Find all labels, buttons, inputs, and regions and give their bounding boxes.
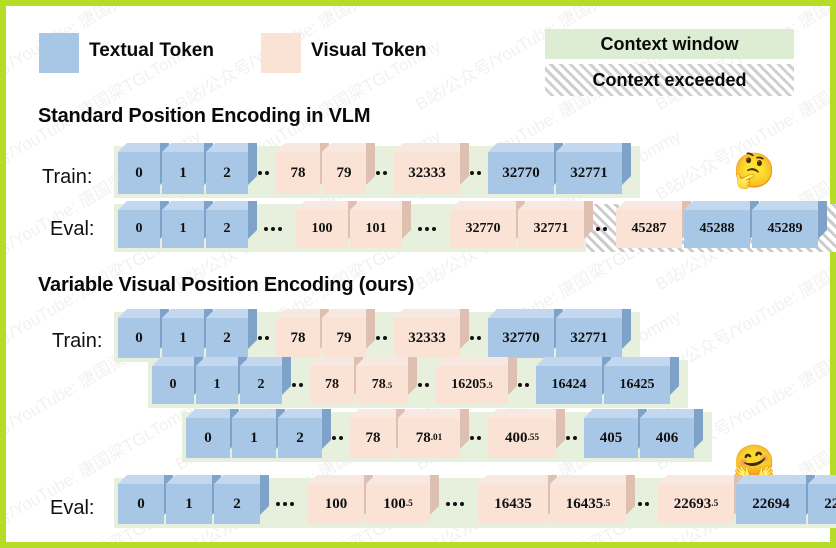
cube-top-face — [550, 475, 626, 484]
ellipsis-dot — [645, 502, 649, 506]
ellipsis-dot — [566, 436, 570, 440]
textual-token-cube: 0 — [186, 418, 230, 458]
ellipsis-dot — [258, 171, 262, 175]
token-value: 16205.5 — [436, 366, 508, 404]
cube-top-face — [162, 309, 204, 318]
textual-token-cube: 32770 — [488, 318, 554, 358]
textual-token-cube: 2 — [206, 318, 248, 358]
textual-token-cube: 0 — [118, 210, 160, 248]
cube-top-face — [518, 201, 584, 210]
visual-token-cube: 16205.5 — [436, 366, 508, 404]
token-value: 1 — [162, 210, 204, 248]
figure-root: B站/公众号/YouTube: 唐国梁TGLTommyB站/公众号/YouTub… — [0, 0, 836, 548]
cube-top-face — [118, 475, 164, 484]
token-value-subscript: .5 — [406, 499, 413, 509]
textual-token-cube: 2 — [214, 484, 260, 524]
ellipsis-dot — [290, 502, 294, 506]
ellipsis-gap — [462, 418, 488, 458]
ellipsis-gap — [432, 484, 478, 524]
ellipsis-dot — [596, 227, 600, 231]
cube-top-face — [196, 357, 238, 366]
ellipsis-dot — [518, 383, 522, 387]
textual-token-cube: 1 — [162, 210, 204, 248]
token-value: 45289 — [752, 210, 818, 248]
textual-token-cube: 2 — [206, 152, 248, 194]
ellipsis-dot — [425, 383, 429, 387]
token-value: 1 — [196, 366, 238, 404]
token-value: 2 — [206, 210, 248, 248]
visual-token-cube: 78.5 — [356, 366, 408, 404]
cube-top-face — [616, 201, 682, 210]
token-value: 0 — [118, 484, 164, 524]
cube-top-face — [488, 143, 554, 152]
cube-top-face — [584, 409, 638, 418]
cube-top-face — [436, 357, 508, 366]
cube-side-face — [622, 309, 631, 349]
cube-top-face — [276, 309, 320, 318]
ellipsis-gap — [410, 366, 436, 404]
token-value-subscript: .5 — [711, 499, 718, 509]
token-value: 2 — [206, 318, 248, 358]
token-value: 100.5 — [366, 484, 430, 524]
ellipsis-gap — [628, 484, 658, 524]
visual-token-cube: 22693.5 — [658, 484, 734, 524]
ellipsis-dot — [278, 227, 282, 231]
textual-token-cube: 45289 — [752, 210, 818, 248]
ellipsis-dot — [446, 502, 450, 506]
visual-token-cube: 32333 — [394, 152, 460, 194]
ellipsis-dot — [332, 436, 336, 440]
token-value: 1 — [162, 152, 204, 194]
cube-side-face — [670, 357, 679, 395]
visual-token-cube: 32771 — [518, 210, 584, 248]
cube-top-face — [640, 409, 694, 418]
token-rows-layer: 0127879323333277032771012100101327703277… — [6, 6, 830, 542]
cube-top-face — [152, 357, 194, 366]
token-value: 78.5 — [356, 366, 408, 404]
ellipsis-dot — [276, 502, 280, 506]
ellipsis-dot — [525, 383, 529, 387]
ellipsis-dot — [453, 502, 457, 506]
token-value: 32770 — [450, 210, 516, 248]
visual-token-cube: 78 — [350, 418, 396, 458]
visual-token-cube: 400.55 — [488, 418, 556, 458]
ellipsis-gap — [462, 152, 488, 194]
ellipsis-dot — [638, 502, 642, 506]
ellipsis-dot — [383, 171, 387, 175]
ellipsis-dot — [376, 171, 380, 175]
cube-top-face — [296, 201, 348, 210]
textual-token-cube: 1 — [196, 366, 238, 404]
cube-top-face — [276, 143, 320, 152]
ellipsis-dot — [573, 436, 577, 440]
textual-token-cube: 0 — [118, 484, 164, 524]
ellipsis-gap — [262, 484, 308, 524]
textual-token-cube: 16425 — [604, 366, 670, 404]
visual-token-cube: 32770 — [450, 210, 516, 248]
token-value: 2 — [278, 418, 322, 458]
cube-top-face — [658, 475, 734, 484]
cube-top-face — [556, 309, 622, 318]
ellipsis-dot — [299, 383, 303, 387]
token-value: 32770 — [488, 318, 554, 358]
cube-top-face — [556, 143, 622, 152]
token-value: 2 — [214, 484, 260, 524]
token-value: 22694 — [736, 484, 806, 524]
token-value: 400.55 — [488, 418, 556, 458]
ellipsis-dot — [477, 336, 481, 340]
textual-token-cube: 1 — [232, 418, 276, 458]
cube-top-face — [322, 143, 366, 152]
visual-token-cube: 16435.5 — [550, 484, 626, 524]
textual-token-cube: 2 — [278, 418, 322, 458]
cube-top-face — [240, 357, 282, 366]
ellipsis-dot — [470, 336, 474, 340]
cube-top-face — [736, 475, 806, 484]
token-value: 22695 — [808, 484, 836, 524]
textual-token-cube: 405 — [584, 418, 638, 458]
ellipsis-dot — [258, 336, 262, 340]
cube-top-face — [394, 143, 460, 152]
visual-token-cube: 78 — [310, 366, 354, 404]
token-value: 32333 — [394, 318, 460, 358]
token-value: 2 — [240, 366, 282, 404]
cube-top-face — [206, 309, 248, 318]
cube-side-face — [818, 201, 827, 239]
visual-token-cube: 101 — [350, 210, 402, 248]
ellipsis-dot — [418, 227, 422, 231]
token-value: 16435.5 — [550, 484, 626, 524]
textual-token-cube: 22694 — [736, 484, 806, 524]
cube-top-face — [278, 409, 322, 418]
textual-token-cube: 0 — [118, 152, 160, 194]
token-value: 78 — [310, 366, 354, 404]
ellipsis-gap — [324, 418, 350, 458]
textual-token-cube: 32771 — [556, 318, 622, 358]
visual-token-cube: 32333 — [394, 318, 460, 358]
token-value: 16424 — [536, 366, 602, 404]
token-value: 79 — [322, 318, 366, 358]
visual-token-cube: 16435 — [478, 484, 548, 524]
textual-token-cube: 0 — [152, 366, 194, 404]
cube-top-face — [356, 357, 408, 366]
ellipsis-dot — [265, 171, 269, 175]
ellipsis-dot — [376, 336, 380, 340]
visual-token-cube: 78 — [276, 152, 320, 194]
cube-top-face — [232, 409, 276, 418]
ellipsis-gap — [284, 366, 310, 404]
ellipsis-gap — [510, 366, 536, 404]
token-value: 32771 — [556, 318, 622, 358]
token-value: 78 — [350, 418, 396, 458]
cube-top-face — [118, 309, 160, 318]
token-value: 405 — [584, 418, 638, 458]
token-value: 22693.5 — [658, 484, 734, 524]
cube-top-face — [118, 201, 160, 210]
textual-token-cube: 2 — [206, 210, 248, 248]
cube-top-face — [350, 409, 396, 418]
ellipsis-gap — [586, 210, 616, 248]
token-value: 45287 — [616, 210, 682, 248]
visual-token-cube: 100.5 — [366, 484, 430, 524]
token-value: 78 — [276, 152, 320, 194]
cube-top-face — [604, 357, 670, 366]
textual-token-cube: 32771 — [556, 152, 622, 194]
token-value: 1 — [232, 418, 276, 458]
cube-top-face — [186, 409, 230, 418]
cube-top-face — [214, 475, 260, 484]
cube-top-face — [752, 201, 818, 210]
ellipsis-dot — [477, 171, 481, 175]
cube-top-face — [350, 201, 402, 210]
ellipsis-dot — [265, 336, 269, 340]
token-value: 16435 — [478, 484, 548, 524]
ellipsis-dot — [383, 336, 387, 340]
token-value: 100 — [296, 210, 348, 248]
cube-top-face — [206, 143, 248, 152]
token-value: 0 — [118, 210, 160, 248]
token-value: 32771 — [556, 152, 622, 194]
ellipsis-dot — [477, 436, 481, 440]
visual-token-cube: 78.01 — [398, 418, 460, 458]
cube-top-face — [478, 475, 548, 484]
ellipsis-dot — [283, 502, 287, 506]
cube-top-face — [206, 201, 248, 210]
cube-top-face — [488, 309, 554, 318]
textual-token-cube: 0 — [118, 318, 160, 358]
token-value: 45288 — [684, 210, 750, 248]
token-value-subscript: .5 — [386, 380, 393, 390]
textual-token-cube: 32770 — [488, 152, 554, 194]
textual-token-cube: 2 — [240, 366, 282, 404]
token-value: 0 — [186, 418, 230, 458]
ellipsis-dot — [292, 383, 296, 387]
cube-side-face — [694, 409, 703, 449]
visual-token-cube: 100 — [308, 484, 364, 524]
ellipsis-dot — [460, 502, 464, 506]
token-value: 79 — [322, 152, 366, 194]
cube-top-face — [808, 475, 836, 484]
ellipsis-dot — [432, 227, 436, 231]
token-value: 1 — [166, 484, 212, 524]
token-value: 0 — [118, 318, 160, 358]
visual-token-cube: 79 — [322, 318, 366, 358]
token-value-subscript: .01 — [431, 433, 443, 443]
token-value-subscript: .55 — [527, 433, 539, 443]
cube-top-face — [450, 201, 516, 210]
textual-token-cube: 22695 — [808, 484, 836, 524]
token-value: 100 — [308, 484, 364, 524]
cube-top-face — [536, 357, 602, 366]
token-value: 1 — [162, 318, 204, 358]
ellipsis-gap — [368, 318, 394, 358]
cube-top-face — [166, 475, 212, 484]
cube-side-face — [622, 143, 631, 185]
ellipsis-dot — [339, 436, 343, 440]
token-value: 0 — [118, 152, 160, 194]
token-value-subscript: .5 — [603, 499, 610, 509]
visual-token-cube: 79 — [322, 152, 366, 194]
cube-top-face — [684, 201, 750, 210]
token-value: 101 — [350, 210, 402, 248]
cube-top-face — [310, 357, 354, 366]
cube-top-face — [162, 201, 204, 210]
token-value: 32333 — [394, 152, 460, 194]
token-value: 406 — [640, 418, 694, 458]
ellipsis-gap — [250, 210, 296, 248]
ellipsis-gap — [558, 418, 584, 458]
visual-token-cube: 45287 — [616, 210, 682, 248]
ellipsis-gap — [368, 152, 394, 194]
textual-token-cube: 406 — [640, 418, 694, 458]
cube-top-face — [488, 409, 556, 418]
ellipsis-dot — [271, 227, 275, 231]
ellipsis-gap — [250, 152, 276, 194]
textual-token-cube: 1 — [162, 318, 204, 358]
ellipsis-dot — [603, 227, 607, 231]
token-value: 32770 — [488, 152, 554, 194]
token-value: 78 — [276, 318, 320, 358]
textual-token-cube: 1 — [166, 484, 212, 524]
token-value: 2 — [206, 152, 248, 194]
visual-token-cube: 78 — [276, 318, 320, 358]
cube-top-face — [366, 475, 430, 484]
ellipsis-gap — [250, 318, 276, 358]
cube-top-face — [118, 143, 160, 152]
ellipsis-dot — [425, 227, 429, 231]
token-value-subscript: .5 — [486, 380, 493, 390]
cube-top-face — [322, 309, 366, 318]
token-value: 0 — [152, 366, 194, 404]
textual-token-cube: 45288 — [684, 210, 750, 248]
visual-token-cube: 100 — [296, 210, 348, 248]
ellipsis-dot — [264, 227, 268, 231]
cube-top-face — [398, 409, 460, 418]
cube-top-face — [394, 309, 460, 318]
textual-token-cube: 1 — [162, 152, 204, 194]
token-value: 78.01 — [398, 418, 460, 458]
ellipsis-dot — [470, 171, 474, 175]
ellipsis-dot — [418, 383, 422, 387]
cube-top-face — [162, 143, 204, 152]
ellipsis-gap — [404, 210, 450, 248]
ellipsis-dot — [470, 436, 474, 440]
ellipsis-gap — [462, 318, 488, 358]
textual-token-cube: 16424 — [536, 366, 602, 404]
cube-top-face — [308, 475, 364, 484]
token-value: 16425 — [604, 366, 670, 404]
token-value: 32771 — [518, 210, 584, 248]
